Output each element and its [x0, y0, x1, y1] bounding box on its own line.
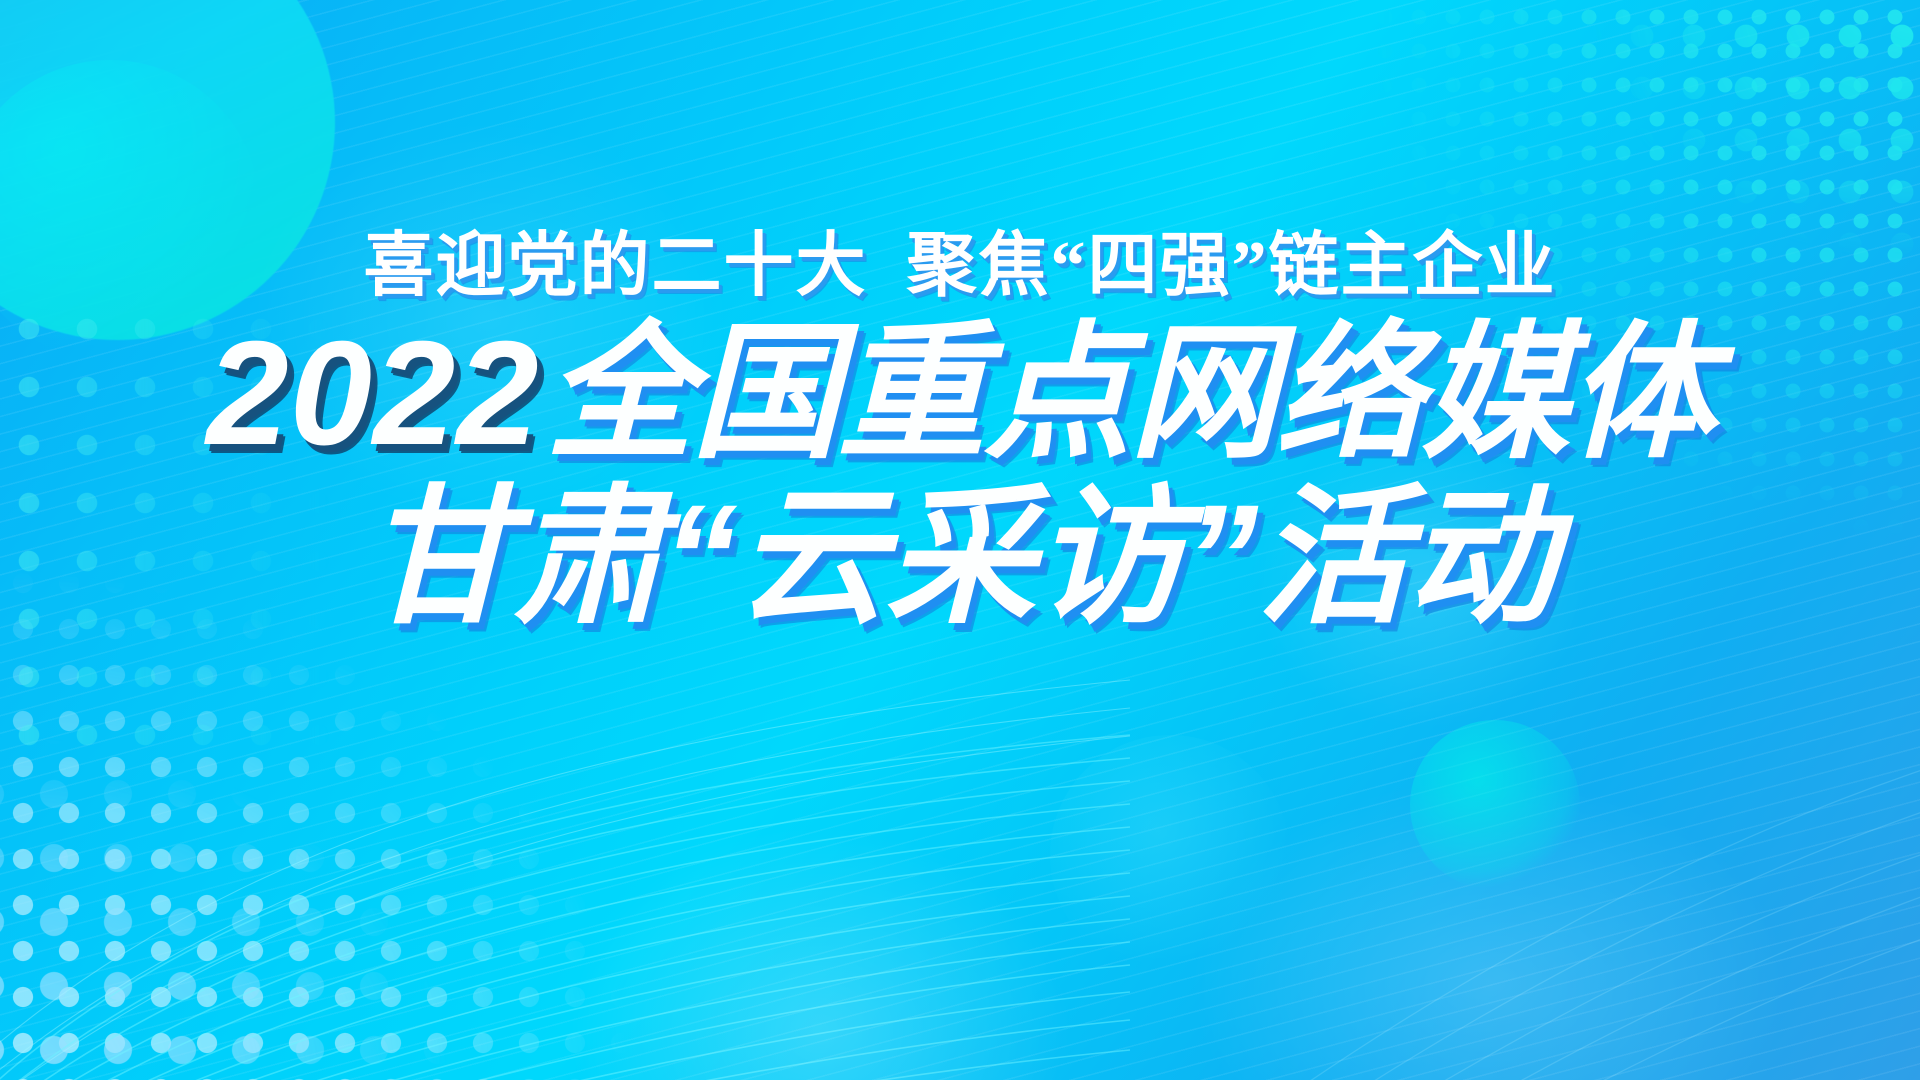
poster-subtitle: 喜迎党的二十大 聚焦“四强”链主企业	[0, 232, 1920, 302]
glow-blob-bottom-center	[560, 820, 1080, 1080]
poster-title-line-1: 2022全国重点网络媒体	[0, 320, 1920, 468]
glow-blob-bottom-right	[1180, 770, 1800, 1080]
poster-banner: 喜迎党的二十大 聚焦“四强”链主企业 2022全国重点网络媒体 甘肃“云采访”活…	[0, 0, 1920, 1080]
poster-title-line-1-text: 全国重点网络媒体	[546, 311, 1714, 476]
cyan-bubble-right	[1410, 720, 1580, 890]
soft-bubble-bottom	[1050, 735, 1290, 975]
poster-text-block: 喜迎党的二十大 聚焦“四强”链主企业 2022全国重点网络媒体 甘肃“云采访”活…	[0, 232, 1920, 632]
poster-title-line-2: 甘肃“云采访”活动	[0, 482, 1920, 632]
poster-title-year: 2022	[206, 311, 545, 476]
bottom-left-large-dots	[0, 680, 520, 1080]
bottom-right-line-swirl	[1280, 700, 1920, 1080]
